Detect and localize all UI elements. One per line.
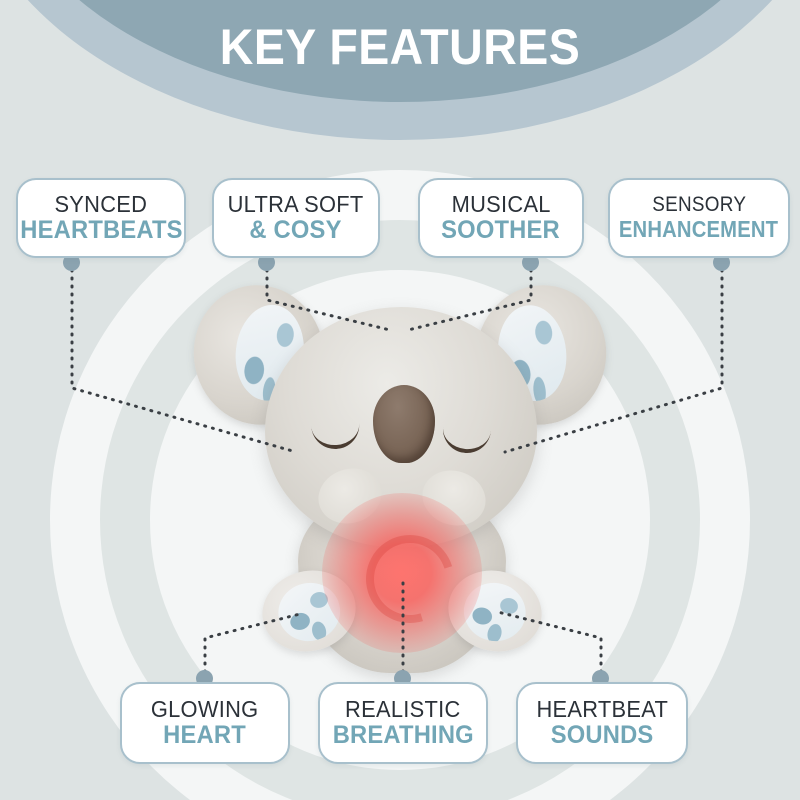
feature-line1: GLOWING (151, 697, 259, 722)
feature-line1: MUSICAL (451, 192, 550, 217)
glowing-heart-icon (322, 493, 482, 653)
feature-line2: SOOTHER (442, 217, 561, 245)
feature-box-sensory-enhancement[interactable]: SENSORY ENHANCEMENT (608, 178, 790, 258)
feature-line1: SENSORY (652, 194, 746, 217)
feature-box-realistic-breathing[interactable]: REALISTIC BREATHING (318, 682, 488, 764)
feature-line1: HEARTBEAT (536, 697, 668, 722)
feature-box-synced-heartbeats[interactable]: SYNCED HEARTBEATS (16, 178, 186, 258)
feature-line2: HEART (164, 722, 247, 750)
feature-line1: SYNCED (55, 192, 148, 217)
feature-box-ultra-soft-cosy[interactable]: ULTRA SOFT & COSY (212, 178, 380, 258)
feature-box-heartbeat-sounds[interactable]: HEARTBEAT SOUNDS (516, 682, 688, 764)
feature-line2: ENHANCEMENT (619, 217, 778, 242)
heart-swirl-icon (350, 519, 469, 638)
product-image-koala-plush (190, 265, 610, 685)
feature-line1: REALISTIC (345, 697, 460, 722)
page-title: KEY FEATURES (28, 18, 772, 76)
feature-line2: HEARTBEATS (20, 217, 182, 245)
feature-box-glowing-heart[interactable]: GLOWING HEART (120, 682, 290, 764)
feature-line2: SOUNDS (551, 722, 654, 750)
feature-box-musical-soother[interactable]: MUSICAL SOOTHER (418, 178, 584, 258)
feature-line2: BREATHING (332, 722, 473, 750)
koala-nose (373, 385, 435, 463)
key-features-infographic: KEY FEATURES (0, 0, 800, 800)
feature-line2: & COSY (250, 217, 342, 245)
feature-line1: ULTRA SOFT (228, 192, 364, 217)
